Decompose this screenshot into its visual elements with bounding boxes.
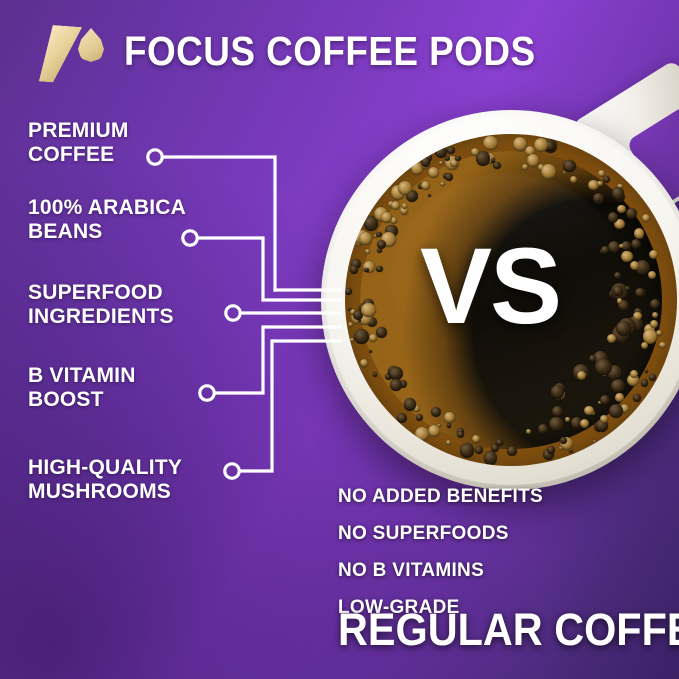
feature-item-arabica-beans: 100% ARABICA BEANS xyxy=(28,196,186,243)
coffee-bubble xyxy=(460,443,474,457)
coffee-bubble xyxy=(431,407,441,417)
coffee-bubble xyxy=(391,201,400,210)
coffee-bubble xyxy=(376,327,387,338)
coffee-bubble xyxy=(350,338,354,342)
coffee-bubble xyxy=(447,423,452,428)
coffee-bubble xyxy=(565,417,570,422)
coffee-bubble xyxy=(364,268,368,272)
coffee-bubble xyxy=(455,156,461,162)
coffee-bubble xyxy=(615,393,623,401)
coffee-bubble xyxy=(569,450,573,454)
coffee-bubble xyxy=(354,329,369,344)
coffee-bubble xyxy=(484,451,498,465)
coffee-bubble xyxy=(444,412,455,423)
coffee-bubble xyxy=(439,161,443,165)
coffee-bubble xyxy=(435,146,447,158)
coffee-bubble xyxy=(483,136,498,151)
coffee-bubble xyxy=(361,303,375,317)
coffee-bubble xyxy=(563,171,566,174)
coffee-bubble xyxy=(631,239,641,249)
header: FOCUS COFFEE PODS xyxy=(36,22,581,80)
coffee-bubble xyxy=(608,241,620,253)
coffee-bubble xyxy=(390,379,401,390)
coffee-bubble xyxy=(496,439,503,446)
coffee-bubble xyxy=(649,374,656,381)
coffee-bubble xyxy=(445,173,453,181)
coffee-bubble xyxy=(345,288,352,295)
coffee-bubble xyxy=(659,342,666,349)
coffee-bubble xyxy=(350,265,359,274)
vs-label: VS xyxy=(420,232,560,340)
brand-logo-icon xyxy=(36,22,108,80)
coffee-bubble xyxy=(348,322,353,327)
coffee-bubble xyxy=(440,182,445,187)
coffee-bubble xyxy=(373,372,377,376)
coffee-bubble xyxy=(603,176,610,183)
feature-item-premium-coffee: PREMIUM COFFEE xyxy=(28,119,129,166)
negative-item-no-superfoods: NO SUPERFOODS xyxy=(338,524,679,543)
coffee-bubble xyxy=(421,157,430,166)
negative-item-no-b-vitamins: NO B VITAMINS xyxy=(338,561,679,580)
coffee-bubble xyxy=(457,431,464,438)
coffee-bubble xyxy=(601,246,609,254)
coffee-bubble xyxy=(621,251,633,263)
coffee-bubble xyxy=(617,205,626,214)
coffee-bubble xyxy=(612,187,624,199)
feature-item-superfood-ingredients: SUPERFOOD INGREDIENTS xyxy=(28,281,174,328)
coffee-bubble xyxy=(560,437,567,444)
feature-label: 100% ARABICA BEANS xyxy=(28,196,186,243)
coffee-bubble xyxy=(650,299,660,309)
coffee-bubble xyxy=(625,286,630,291)
coffee-bubble xyxy=(613,286,623,296)
feature-label: B VITAMIN BOOST xyxy=(28,364,136,411)
coffee-bubble xyxy=(404,398,416,410)
coffee-bubble xyxy=(415,427,429,441)
coffee-bubble xyxy=(589,355,596,362)
coffee-bubble xyxy=(360,359,368,367)
coffee-bubble xyxy=(369,350,372,353)
coffee-bubble xyxy=(397,413,407,423)
coffee-bubble xyxy=(445,156,450,161)
coffee-bubble xyxy=(633,312,641,320)
feature-item-high-quality-mushrooms: HIGH-QUALITY MUSHROOMS xyxy=(28,456,182,503)
coffee-bubble xyxy=(597,181,602,186)
coffee-bubble xyxy=(626,208,637,219)
regular-coffee-heading: REGULAR COFFEE xyxy=(338,607,679,652)
feature-list: PREMIUM COFFEE 100% ARABICA BEANS SUPERF… xyxy=(0,0,340,679)
coffee-bubble xyxy=(402,203,407,208)
coffee-bubble xyxy=(547,446,555,454)
coffee-bubble xyxy=(472,435,480,443)
coffee-bubble xyxy=(446,440,451,445)
coffee-bubble xyxy=(475,446,483,454)
coffee-bubble xyxy=(614,272,621,279)
coffee-bubble xyxy=(471,148,479,156)
logo-droplet-icon xyxy=(78,28,104,62)
coffee-bubble xyxy=(447,147,455,155)
coffee-bubble xyxy=(648,271,656,279)
coffee-bubble xyxy=(570,176,577,183)
feature-label: SUPERFOOD INGREDIENTS xyxy=(28,281,174,328)
coffee-bubble xyxy=(607,334,616,343)
coffee-bubble xyxy=(593,440,596,443)
coffee-bubble xyxy=(645,370,648,373)
coffee-bubble xyxy=(428,194,431,197)
coffee-bubble xyxy=(428,167,439,178)
coffee-bubble xyxy=(641,379,648,386)
coffee-bubble xyxy=(365,249,370,254)
coffee-bubble xyxy=(493,162,500,169)
coffee-bubble xyxy=(507,446,517,456)
coffee-bubble xyxy=(650,320,658,328)
coffee-bubble xyxy=(633,394,641,402)
coffee-bubble xyxy=(416,414,423,421)
coffee-bubble xyxy=(421,181,430,190)
coffee-bubble xyxy=(652,312,658,318)
coffee-bubble xyxy=(600,395,610,405)
coffee-bubble xyxy=(635,288,644,297)
coffee-bubble xyxy=(359,232,372,245)
coffee-bubble xyxy=(377,240,386,249)
coffee-bubble xyxy=(526,429,531,434)
coffee-bubble xyxy=(552,406,563,417)
coffee-bubble xyxy=(522,164,528,170)
coffee-bubble xyxy=(551,385,564,398)
coffee-bubble xyxy=(619,244,623,248)
coffee-bubble xyxy=(538,424,548,434)
coffee-bubble xyxy=(611,379,625,393)
coffee-bubble xyxy=(641,342,648,349)
coffee-bubble xyxy=(649,250,658,259)
feature-item-b-vitamin-boost: B VITAMIN BOOST xyxy=(28,364,136,411)
coffee-bubble xyxy=(630,261,639,270)
coffee-bubble xyxy=(369,334,377,342)
coffee-bubble xyxy=(381,212,392,223)
coffee-bubble xyxy=(617,298,622,303)
coffee-bubble xyxy=(609,404,623,418)
page-title: FOCUS COFFEE PODS xyxy=(124,31,536,72)
coffee-bubble xyxy=(428,425,440,437)
feature-label: HIGH-QUALITY MUSHROOMS xyxy=(28,456,182,503)
comparison-infographic: FOCUS COFFEE PODS PREMIUM COFFEE 100% AR… xyxy=(0,0,679,679)
coffee-bubble xyxy=(541,164,556,179)
coffee-bubble xyxy=(642,214,650,222)
coffee-bubble xyxy=(634,228,644,238)
coffee-bubble xyxy=(580,419,589,428)
negative-item-no-added-benefits: NO ADDED BENEFITS xyxy=(338,487,679,506)
coffee-bubble xyxy=(398,181,412,195)
feature-label: PREMIUM COFFEE xyxy=(28,119,129,166)
coffee-bubble xyxy=(549,417,563,431)
coffee-bubble xyxy=(584,406,593,415)
coffee-bubble xyxy=(376,266,382,272)
logo-slab-shape xyxy=(32,25,82,83)
